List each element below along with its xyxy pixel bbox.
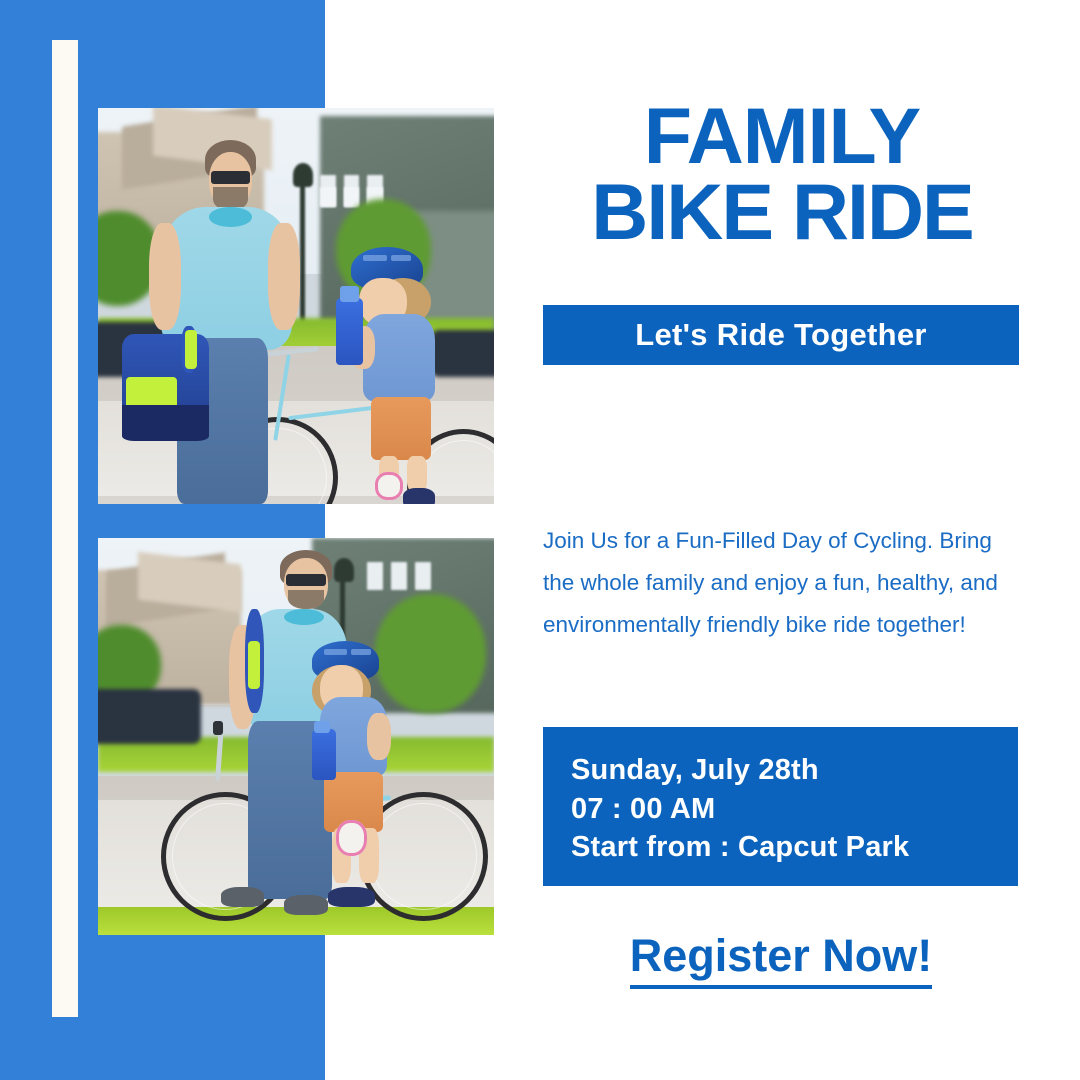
subtitle-banner: Let's Ride Together xyxy=(543,305,1019,365)
photo-father-and-child-with-bike xyxy=(98,108,494,504)
headline-line-2: BIKE RIDE xyxy=(543,174,1021,250)
cream-accent-stripe xyxy=(52,40,78,1017)
register-now-link[interactable]: Register Now! xyxy=(543,930,1019,989)
headline-line-1: FAMILY xyxy=(543,98,1021,174)
event-details-box: Sunday, July 28th 07 : 00 AM Start from … xyxy=(543,727,1018,886)
event-location: Start from : Capcut Park xyxy=(571,828,1018,867)
register-now-label[interactable]: Register Now! xyxy=(630,930,933,989)
event-time: 07 : 00 AM xyxy=(571,790,1018,829)
poster-canvas: FAMILY BIKE RIDE Let's Ride Together Joi… xyxy=(0,0,1080,1080)
page-title: FAMILY BIKE RIDE xyxy=(543,98,1021,250)
photo-father-hugging-child-by-bike xyxy=(98,538,494,935)
description-text: Join Us for a Fun-Filled Day of Cycling.… xyxy=(543,520,1013,647)
event-date: Sunday, July 28th xyxy=(571,727,1018,790)
subtitle-text: Let's Ride Together xyxy=(635,317,927,353)
